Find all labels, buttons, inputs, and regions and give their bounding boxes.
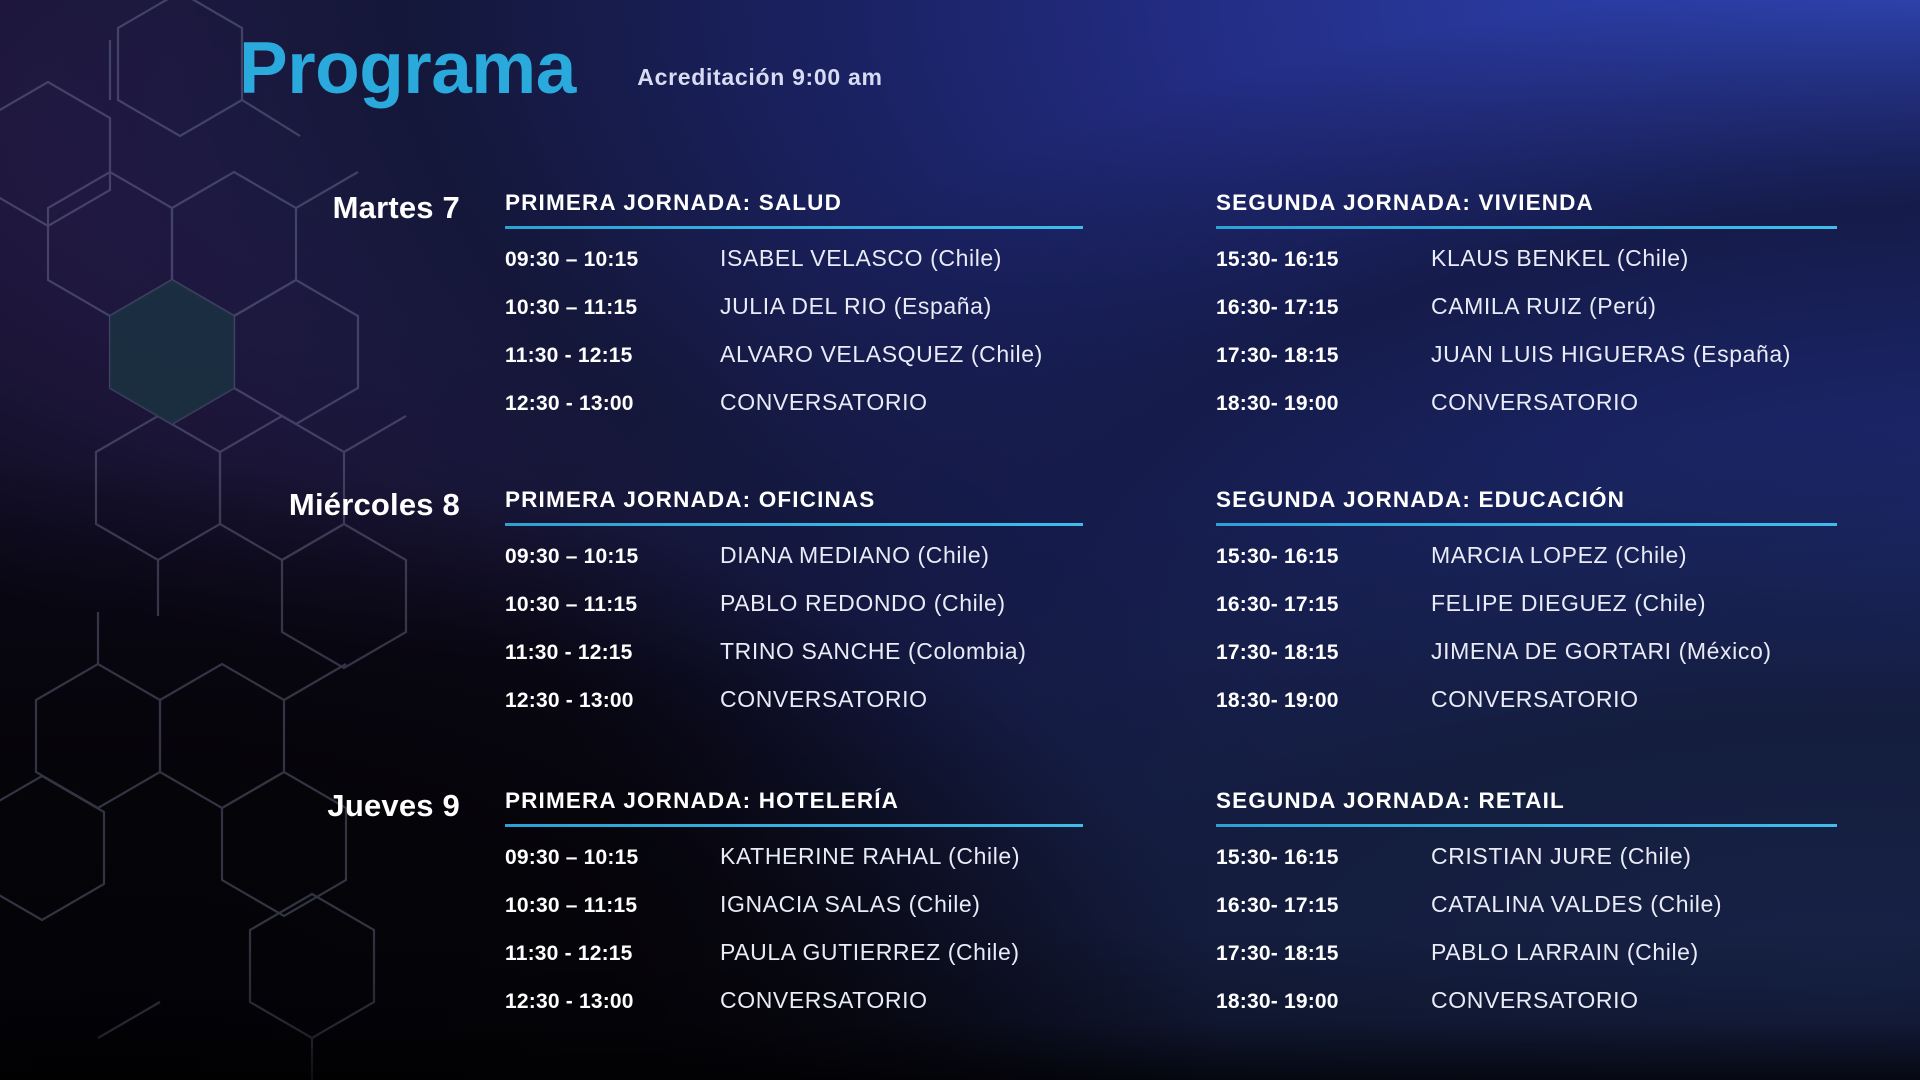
slide-canvas: Programa Acreditación 9:00 am Martes 7 P… [0,0,1920,1080]
session-row[interactable]: 09:30 – 10:15 DIANA MEDIANO (Chile) [505,542,1125,590]
session-list: 09:30 – 10:15 KATHERINE RAHAL (Chile) 10… [505,843,1125,1035]
session-speaker: PABLO LARRAIN (Chile) [1431,939,1699,966]
session-row[interactable]: 09:30 – 10:15 ISABEL VELASCO (Chile) [505,245,1125,293]
session-speaker: JULIA DEL RIO (España) [720,293,992,320]
session-row[interactable]: 11:30 - 12:15 ALVARO VELASQUEZ (Chile) [505,341,1125,389]
day-label: Martes 7 [80,190,460,226]
session-row[interactable]: 17:30- 18:15 PABLO LARRAIN (Chile) [1216,939,1896,987]
session-time: 12:30 - 13:00 [505,990,720,1014]
session-speaker: CONVERSATORIO [720,686,928,713]
session-time: 09:30 – 10:15 [505,545,720,569]
session-time: 16:30- 17:15 [1216,296,1431,320]
session-row[interactable]: 17:30- 18:15 JUAN LUIS HIGUERAS (España) [1216,341,1896,389]
jornada-primera: PRIMERA JORNADA: HOTELERÍA 09:30 – 10:15… [505,788,1125,1035]
session-speaker: TRINO SANCHE (Colombia) [720,638,1026,665]
session-time: 10:30 – 11:15 [505,593,720,617]
session-row[interactable]: 18:30- 19:00 CONVERSATORIO [1216,987,1896,1035]
session-speaker: ALVARO VELASQUEZ (Chile) [720,341,1043,368]
session-list: 15:30- 16:15 MARCIA LOPEZ (Chile) 16:30-… [1216,542,1896,734]
session-time: 11:30 - 12:15 [505,641,720,665]
session-time: 16:30- 17:15 [1216,894,1431,918]
jornada-underline [505,523,1083,526]
session-speaker: JIMENA DE GORTARI (México) [1431,638,1772,665]
session-row[interactable]: 16:30- 17:15 CATALINA VALDES (Chile) [1216,891,1896,939]
session-list: 15:30- 16:15 CRISTIAN JURE (Chile) 16:30… [1216,843,1896,1035]
session-row[interactable]: 15:30- 16:15 KLAUS BENKEL (Chile) [1216,245,1896,293]
jornada-underline [1216,824,1837,827]
session-row[interactable]: 12:30 - 13:00 CONVERSATORIO [505,987,1125,1035]
session-speaker: CRISTIAN JURE (Chile) [1431,843,1692,870]
jornada-underline [1216,523,1837,526]
session-speaker: PAULA GUTIERREZ (Chile) [720,939,1020,966]
session-row[interactable]: 10:30 – 11:15 IGNACIA SALAS (Chile) [505,891,1125,939]
session-speaker: MARCIA LOPEZ (Chile) [1431,542,1687,569]
session-time: 18:30- 19:00 [1216,392,1431,416]
session-row[interactable]: 12:30 - 13:00 CONVERSATORIO [505,686,1125,734]
session-row[interactable]: 15:30- 16:15 MARCIA LOPEZ (Chile) [1216,542,1896,590]
session-time: 15:30- 16:15 [1216,248,1431,272]
jornada-title: SEGUNDA JORNADA: EDUCACIÓN [1216,487,1896,513]
jornada-primera: PRIMERA JORNADA: OFICINAS 09:30 – 10:15 … [505,487,1125,734]
session-time: 09:30 – 10:15 [505,248,720,272]
session-speaker: KATHERINE RAHAL (Chile) [720,843,1020,870]
jornada-underline [505,226,1083,229]
jornada-segunda: SEGUNDA JORNADA: EDUCACIÓN 15:30- 16:15 … [1216,487,1896,734]
session-speaker: ISABEL VELASCO (Chile) [720,245,1002,272]
jornada-title: PRIMERA JORNADA: HOTELERÍA [505,788,1125,814]
header: Programa Acreditación 9:00 am [239,32,883,105]
session-row[interactable]: 10:30 – 11:15 PABLO REDONDO (Chile) [505,590,1125,638]
day-label: Jueves 9 [80,788,460,824]
session-time: 15:30- 16:15 [1216,545,1431,569]
session-time: 17:30- 18:15 [1216,641,1431,665]
session-time: 12:30 - 13:00 [505,392,720,416]
session-row[interactable]: 10:30 – 11:15 JULIA DEL RIO (España) [505,293,1125,341]
session-row[interactable]: 16:30- 17:15 CAMILA RUIZ (Perú) [1216,293,1896,341]
day-label: Miércoles 8 [80,487,460,523]
jornada-segunda: SEGUNDA JORNADA: VIVIENDA 15:30- 16:15 K… [1216,190,1896,437]
session-row[interactable]: 09:30 – 10:15 KATHERINE RAHAL (Chile) [505,843,1125,891]
session-row[interactable]: 18:30- 19:00 CONVERSATORIO [1216,686,1896,734]
session-time: 12:30 - 13:00 [505,689,720,713]
session-speaker: IGNACIA SALAS (Chile) [720,891,981,918]
session-time: 18:30- 19:00 [1216,689,1431,713]
session-time: 11:30 - 12:15 [505,942,720,966]
session-row[interactable]: 11:30 - 12:15 PAULA GUTIERREZ (Chile) [505,939,1125,987]
session-speaker: FELIPE DIEGUEZ (Chile) [1431,590,1706,617]
jornada-title: SEGUNDA JORNADA: VIVIENDA [1216,190,1896,216]
session-speaker: PABLO REDONDO (Chile) [720,590,1006,617]
session-time: 09:30 – 10:15 [505,846,720,870]
session-time: 15:30- 16:15 [1216,846,1431,870]
session-list: 09:30 – 10:15 ISABEL VELASCO (Chile) 10:… [505,245,1125,437]
session-row[interactable]: 12:30 - 13:00 CONVERSATORIO [505,389,1125,437]
session-speaker: CONVERSATORIO [1431,389,1639,416]
accreditation-note: Acreditación 9:00 am [637,64,882,91]
session-time: 18:30- 19:00 [1216,990,1431,1014]
session-row[interactable]: 15:30- 16:15 CRISTIAN JURE (Chile) [1216,843,1896,891]
session-speaker: CONVERSATORIO [720,987,928,1014]
session-time: 11:30 - 12:15 [505,344,720,368]
session-list: 15:30- 16:15 KLAUS BENKEL (Chile) 16:30-… [1216,245,1896,437]
jornada-underline [1216,226,1837,229]
session-row[interactable]: 16:30- 17:15 FELIPE DIEGUEZ (Chile) [1216,590,1896,638]
session-row[interactable]: 17:30- 18:15 JIMENA DE GORTARI (México) [1216,638,1896,686]
session-speaker: DIANA MEDIANO (Chile) [720,542,989,569]
jornada-title: PRIMERA JORNADA: SALUD [505,190,1125,216]
session-time: 17:30- 18:15 [1216,344,1431,368]
session-speaker: CONVERSATORIO [1431,686,1639,713]
session-speaker: CONVERSATORIO [1431,987,1639,1014]
jornada-title: SEGUNDA JORNADA: RETAIL [1216,788,1896,814]
session-time: 17:30- 18:15 [1216,942,1431,966]
session-time: 10:30 – 11:15 [505,296,720,320]
jornada-primera: PRIMERA JORNADA: SALUD 09:30 – 10:15 ISA… [505,190,1125,437]
jornada-segunda: SEGUNDA JORNADA: RETAIL 15:30- 16:15 CRI… [1216,788,1896,1035]
session-speaker: CAMILA RUIZ (Perú) [1431,293,1657,320]
session-speaker: JUAN LUIS HIGUERAS (España) [1431,341,1791,368]
jornada-title: PRIMERA JORNADA: OFICINAS [505,487,1125,513]
session-time: 10:30 – 11:15 [505,894,720,918]
session-list: 09:30 – 10:15 DIANA MEDIANO (Chile) 10:3… [505,542,1125,734]
jornada-underline [505,824,1083,827]
session-row[interactable]: 18:30- 19:00 CONVERSATORIO [1216,389,1896,437]
session-speaker: CATALINA VALDES (Chile) [1431,891,1722,918]
session-speaker: CONVERSATORIO [720,389,928,416]
session-time: 16:30- 17:15 [1216,593,1431,617]
session-speaker: KLAUS BENKEL (Chile) [1431,245,1689,272]
page-title: Programa [239,32,576,105]
session-row[interactable]: 11:30 - 12:15 TRINO SANCHE (Colombia) [505,638,1125,686]
